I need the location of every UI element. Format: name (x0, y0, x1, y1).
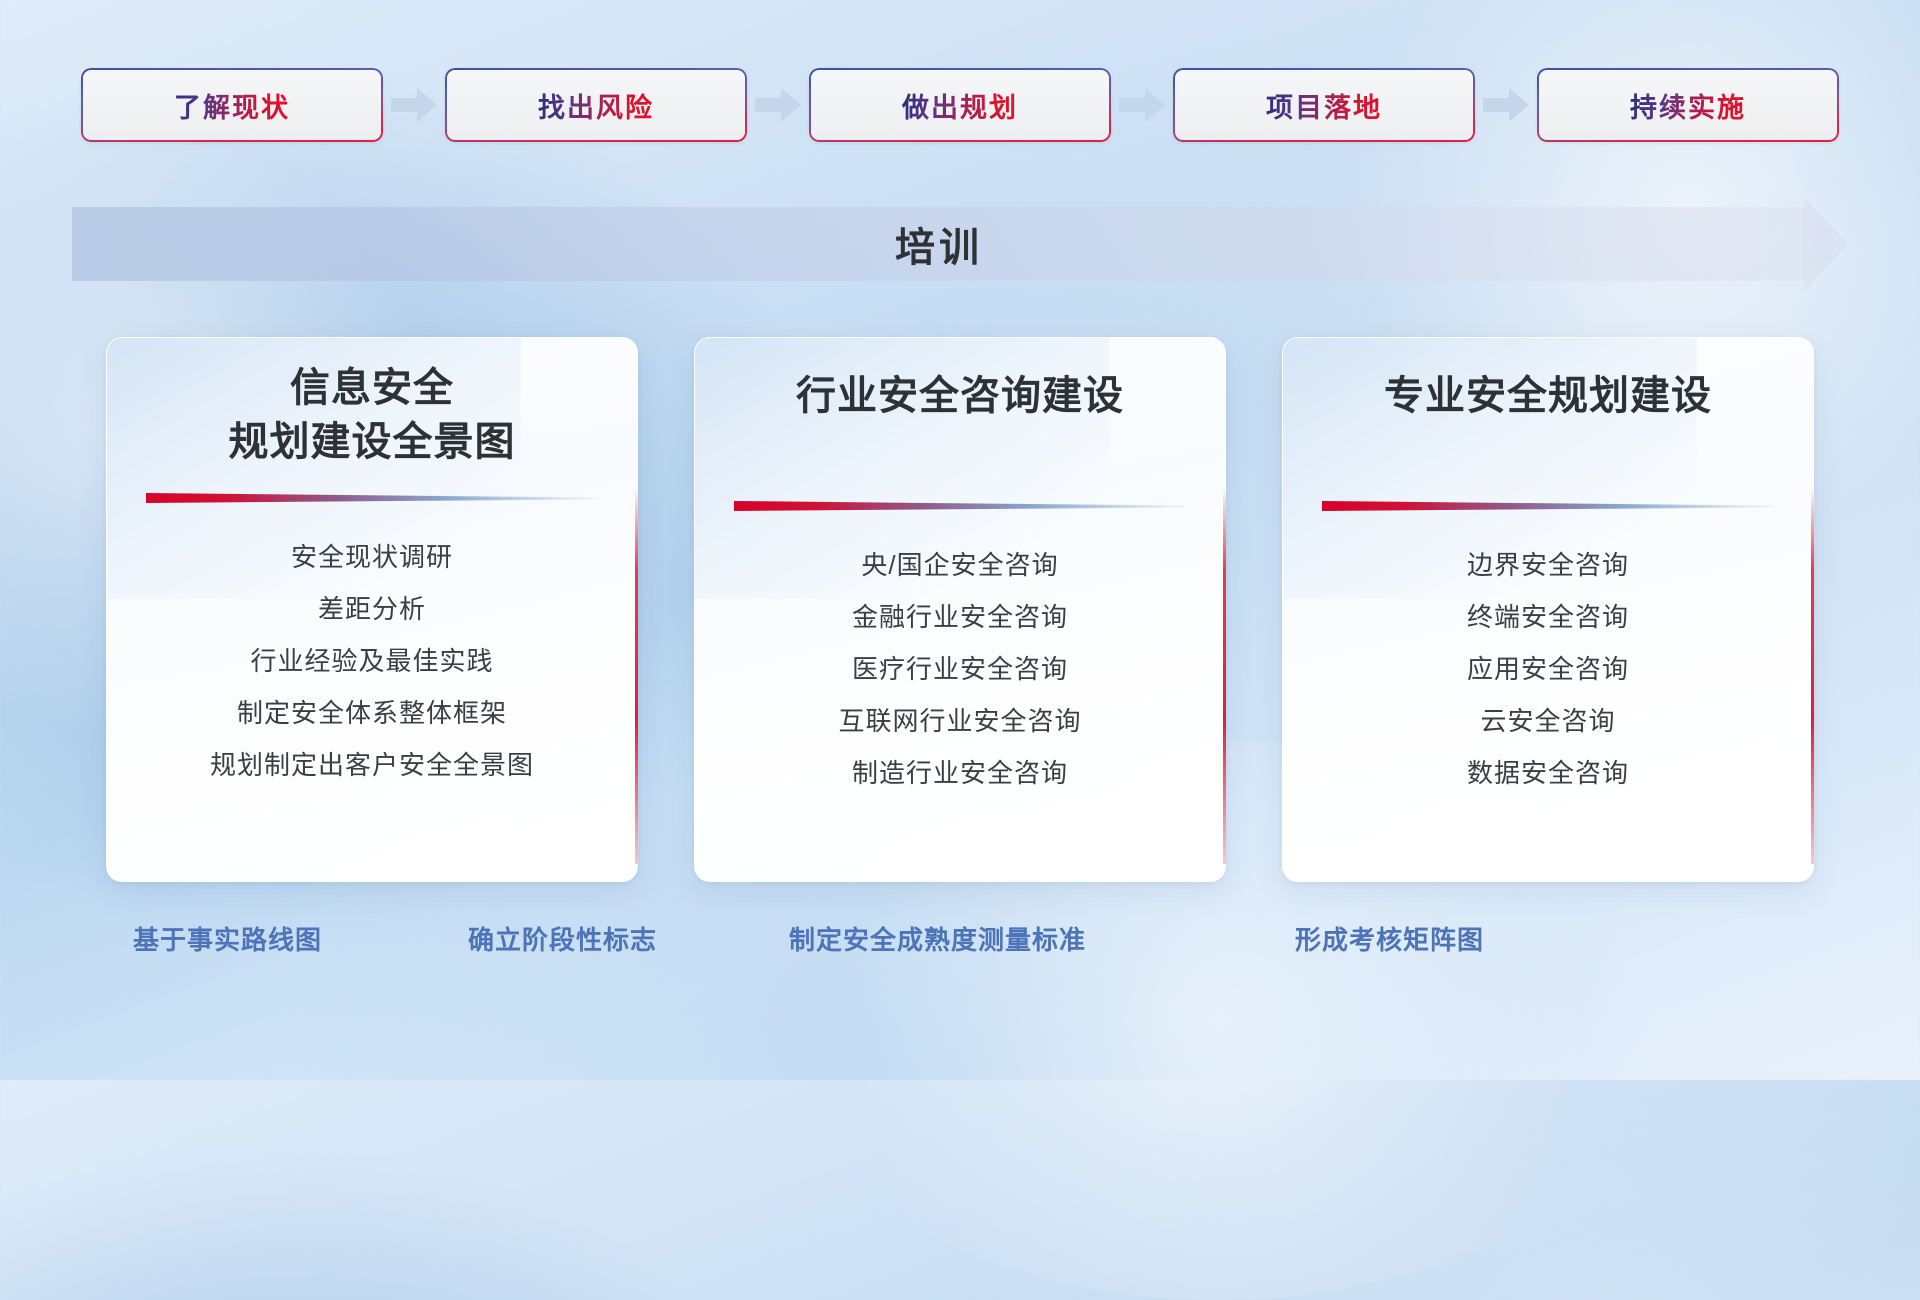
process-step-3[interactable]: 做出规划 (809, 68, 1111, 142)
card-1-right-accent (635, 487, 638, 864)
card-1-list-item-2: 差距分析 (210, 583, 534, 635)
step-arrow-icon-2 (747, 85, 809, 125)
card-2-list: 央/国企安全咨询 金融行业安全咨询 医疗行业安全咨询 互联网行业安全咨询 制造行… (838, 539, 1081, 799)
card-2-list-item-2: 金融行业安全咨询 (838, 591, 1081, 643)
card-1-list-item-4: 制定安全体系整体框架 (210, 687, 534, 739)
card-2-title: 行业安全咨询建设 (770, 369, 1150, 477)
training-banner: 培训 (72, 207, 1848, 281)
process-step-4-label: 项目落地 (1266, 86, 1382, 125)
card-1-title: 信息安全 规划建设全景图 (203, 361, 542, 469)
process-step-3-label: 做出规划 (902, 86, 1018, 125)
card-2-list-item-4: 互联网行业安全咨询 (838, 695, 1081, 747)
card-3-list-item-1: 边界安全咨询 (1467, 539, 1629, 591)
step-arrow-icon-4 (1475, 85, 1537, 125)
card-2-divider (734, 499, 1186, 513)
capability-card-3[interactable]: 专业安全规划建设 边界安全咨询 终端安全 (1282, 337, 1814, 882)
card-3-list: 边界安全咨询 终端安全咨询 应用安全咨询 云安全咨询 数据安全咨询 (1467, 539, 1629, 799)
card-1-list-item-1: 安全现状调研 (210, 531, 534, 583)
card-3-title: 专业安全规划建设 (1358, 369, 1738, 477)
card-3-list-item-2: 终端安全咨询 (1467, 591, 1629, 643)
caption-3: 制定安全成熟度测量标准 (789, 920, 1086, 957)
card-2-list-item-5: 制造行业安全咨询 (838, 747, 1081, 799)
training-banner-label: 培训 (72, 207, 1806, 281)
process-step-2-label: 找出风险 (538, 86, 654, 125)
process-step-5-label: 持续实施 (1630, 86, 1746, 125)
card-3-list-item-5: 数据安全咨询 (1467, 747, 1629, 799)
card-2-list-item-1: 央/国企安全咨询 (838, 539, 1081, 591)
card-3-right-accent (1811, 487, 1814, 864)
card-3-list-item-4: 云安全咨询 (1467, 695, 1629, 747)
capability-card-1[interactable]: 信息安全 规划建设全景图 安全现状调研 差 (106, 337, 638, 882)
process-step-4[interactable]: 项目落地 (1173, 68, 1475, 142)
card-2-list-item-3: 医疗行业安全咨询 (838, 643, 1081, 695)
process-step-1[interactable]: 了解现状 (81, 68, 383, 142)
card-2-right-accent (1223, 487, 1226, 864)
card-2-title-line-1: 行业安全咨询建设 (796, 369, 1124, 423)
card-1-list: 安全现状调研 差距分析 行业经验及最佳实践 制定安全体系整体框架 规划制定出客户… (210, 531, 534, 791)
card-1-title-line-1: 信息安全 (229, 361, 516, 415)
capability-card-row: 信息安全 规划建设全景图 安全现状调研 差 (0, 337, 1920, 882)
card-1-divider (146, 491, 598, 505)
caption-2: 确立阶段性标志 (468, 920, 657, 957)
card-3-list-item-3: 应用安全咨询 (1467, 643, 1629, 695)
process-step-2[interactable]: 找出风险 (445, 68, 747, 142)
card-1-list-item-5: 规划制定出客户安全全景图 (210, 739, 534, 791)
step-arrow-icon-3 (1111, 85, 1173, 125)
card-3-divider (1322, 499, 1774, 513)
card-1-list-item-3: 行业经验及最佳实践 (210, 635, 534, 687)
caption-row: 基于事实路线图 确立阶段性标志 制定安全成熟度测量标准 形成考核矩阵图 (0, 920, 1920, 960)
process-step-1-label: 了解现状 (174, 86, 290, 125)
step-arrow-icon-1 (383, 85, 445, 125)
capability-card-2[interactable]: 行业安全咨询建设 央/国企安全咨询 金融 (694, 337, 1226, 882)
process-step-5[interactable]: 持续实施 (1537, 68, 1839, 142)
card-3-title-line-1: 专业安全规划建设 (1384, 369, 1712, 423)
training-banner-arrow-icon (1804, 197, 1848, 291)
process-step-row: 了解现状 找出风险 做出规划 项目落地 持续实施 (0, 68, 1920, 142)
caption-1: 基于事实路线图 (133, 920, 322, 957)
card-1-title-line-2: 规划建设全景图 (229, 415, 516, 469)
caption-4: 形成考核矩阵图 (1295, 920, 1484, 957)
